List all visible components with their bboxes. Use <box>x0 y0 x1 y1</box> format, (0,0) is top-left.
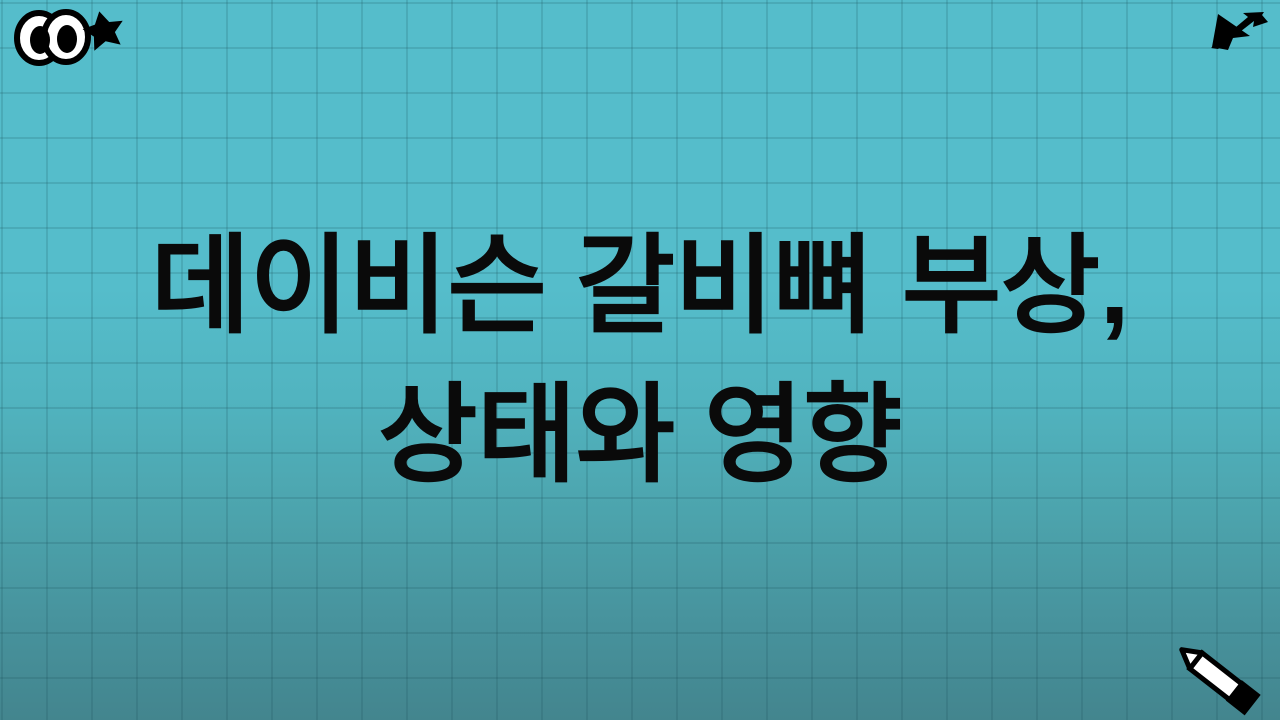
page-title: 데이비슨 갈비뼈 부상, 상태와 영향 <box>130 211 1150 509</box>
title-block: 데이비슨 갈비뼈 부상, 상태와 영향 <box>0 0 1280 720</box>
thumbnail-card: 데이비슨 갈비뼈 부상, 상태와 영향 <box>0 0 1280 720</box>
